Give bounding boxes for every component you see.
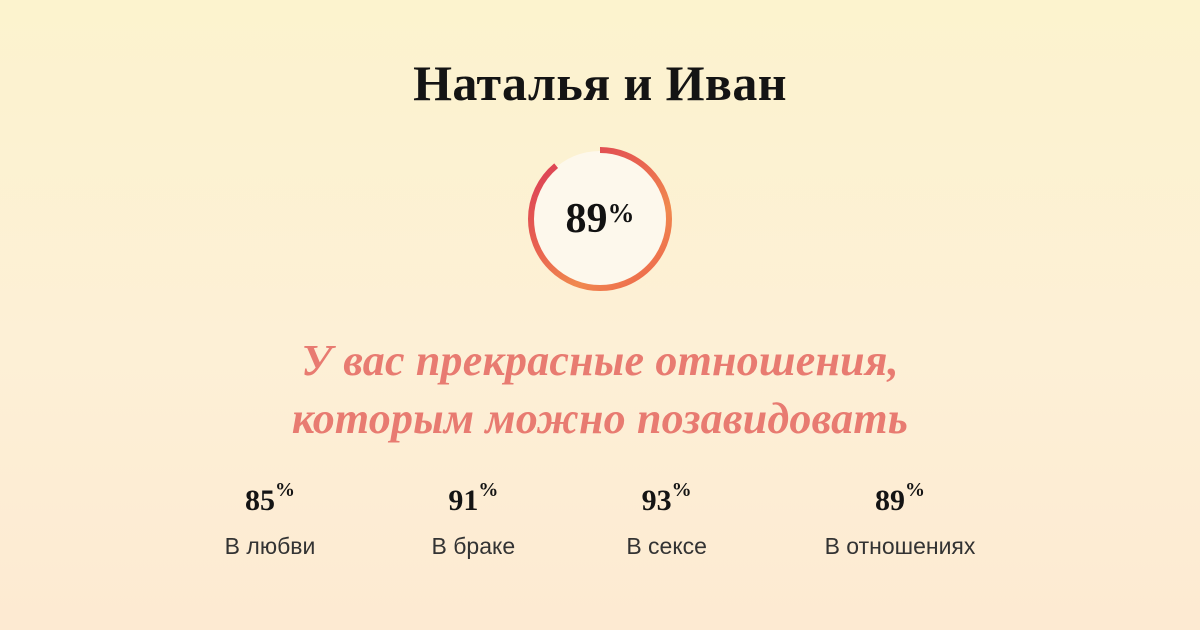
stat-label: В браке	[383, 533, 563, 561]
tagline-line-1: У вас прекрасные отношения,	[0, 332, 1200, 390]
stat-value-number: 91	[448, 484, 478, 517]
stat-label: В отношениях	[770, 533, 1030, 561]
stat-item-sex: 93% В сексе	[577, 482, 757, 561]
page-title: Наталья и Иван	[0, 56, 1200, 111]
stat-value: 91%	[383, 482, 563, 517]
gauge-value: 89%	[528, 147, 672, 291]
stat-value-number: 85	[245, 484, 275, 517]
stat-percent-symbol: %	[275, 479, 295, 501]
stat-percent-symbol: %	[905, 479, 925, 501]
stat-value: 93%	[577, 482, 757, 517]
stat-value: 85%	[170, 482, 370, 517]
stat-percent-symbol: %	[672, 479, 692, 501]
stat-label: В любви	[170, 533, 370, 561]
tagline-line-2: которым можно позавидовать	[0, 390, 1200, 448]
stat-label: В сексе	[577, 533, 757, 561]
stat-value: 89%	[770, 482, 1030, 517]
stat-item-marriage: 91% В браке	[383, 482, 563, 561]
stat-percent-symbol: %	[478, 479, 498, 501]
gauge-value-number: 89	[566, 195, 608, 243]
stat-value-number: 93	[642, 484, 672, 517]
stat-item-love: 85% В любви	[170, 482, 370, 561]
compatibility-gauge: 89%	[528, 147, 672, 291]
stat-value-number: 89	[875, 484, 905, 517]
gauge-percent-symbol: %	[608, 198, 635, 229]
compatibility-card: Наталья и Иван 89% У вас прекрасные отно…	[0, 0, 1200, 630]
tagline: У вас прекрасные отношения, которым можн…	[0, 332, 1200, 448]
stat-item-relationship: 89% В отношениях	[770, 482, 1030, 561]
stats-row: 85% В любви 91% В браке 93% В сексе 89% …	[170, 482, 1030, 561]
